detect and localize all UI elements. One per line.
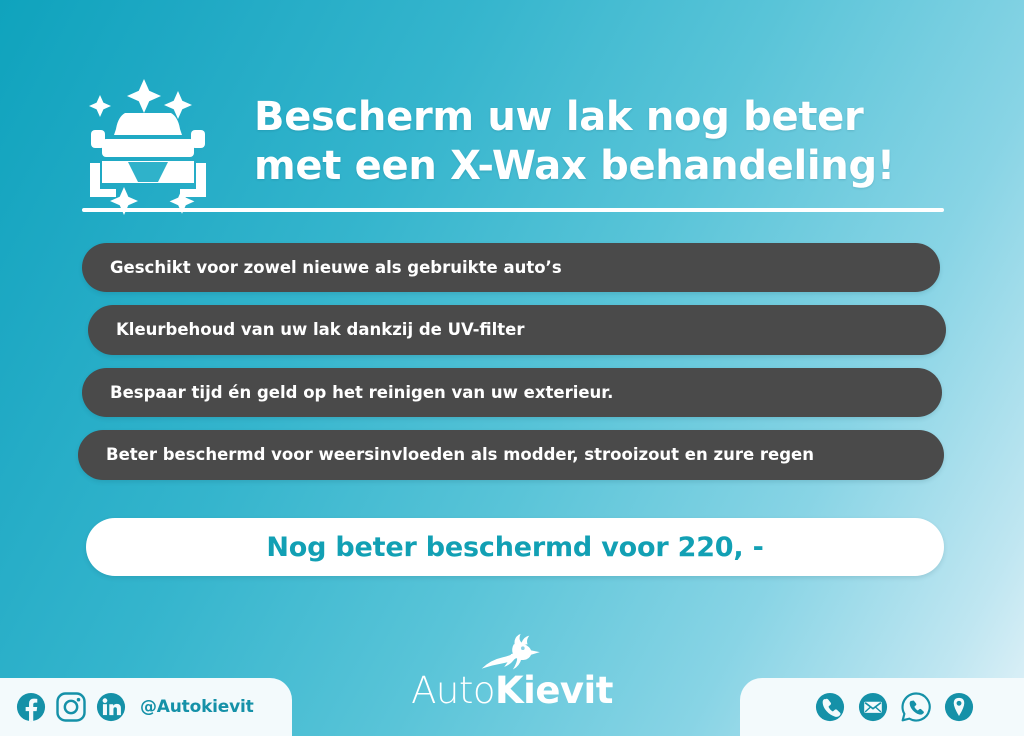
logo-wordmark: AutoKievit xyxy=(411,672,613,709)
list-item: Beter beschermd voor weersinvloeden als … xyxy=(78,430,944,479)
page-title: Bescherm uw lak nog beter met een X-Wax … xyxy=(254,93,895,191)
feature-text: Kleurbehoud van uw lak dankzij de UV-fil… xyxy=(116,318,525,341)
lapwing-bird-icon xyxy=(473,632,551,674)
logo-word-auto: Auto xyxy=(411,669,495,712)
price-cta-text: Nog beter beschermd voor 220, - xyxy=(266,532,763,563)
logo-word-kievit: Kievit xyxy=(495,669,613,712)
contact-bar xyxy=(740,678,1024,736)
social-bar: @Autokievit xyxy=(0,678,292,736)
feature-text: Beter beschermd voor weersinvloeden als … xyxy=(106,443,814,466)
feature-list: Geschikt voor zowel nieuwe als gebruikte… xyxy=(0,243,1024,493)
headline-line-2: met een X-Wax behandeling! xyxy=(254,142,895,191)
list-item: Kleurbehoud van uw lak dankzij de UV-fil… xyxy=(88,305,946,354)
instagram-icon[interactable] xyxy=(56,692,86,722)
sparkling-car-icon xyxy=(78,67,228,217)
feature-text: Bespaar tijd én geld op het reinigen van… xyxy=(110,381,613,404)
social-handle: @Autokievit xyxy=(140,697,254,717)
feature-text: Geschikt voor zowel nieuwe als gebruikte… xyxy=(110,256,562,279)
whatsapp-icon[interactable] xyxy=(901,692,931,722)
linkedin-icon[interactable] xyxy=(96,692,126,722)
header-divider xyxy=(82,208,944,212)
location-pin-icon[interactable] xyxy=(944,692,974,722)
facebook-icon[interactable] xyxy=(16,692,46,722)
price-cta-banner[interactable]: Nog beter beschermd voor 220, - xyxy=(86,518,944,576)
headline-line-1: Bescherm uw lak nog beter xyxy=(254,93,895,142)
phone-icon[interactable] xyxy=(815,692,845,722)
list-item: Bespaar tijd én geld op het reinigen van… xyxy=(82,368,942,417)
header: Bescherm uw lak nog beter met een X-Wax … xyxy=(78,62,958,222)
email-icon[interactable] xyxy=(858,692,888,722)
list-item: Geschikt voor zowel nieuwe als gebruikte… xyxy=(82,243,940,292)
